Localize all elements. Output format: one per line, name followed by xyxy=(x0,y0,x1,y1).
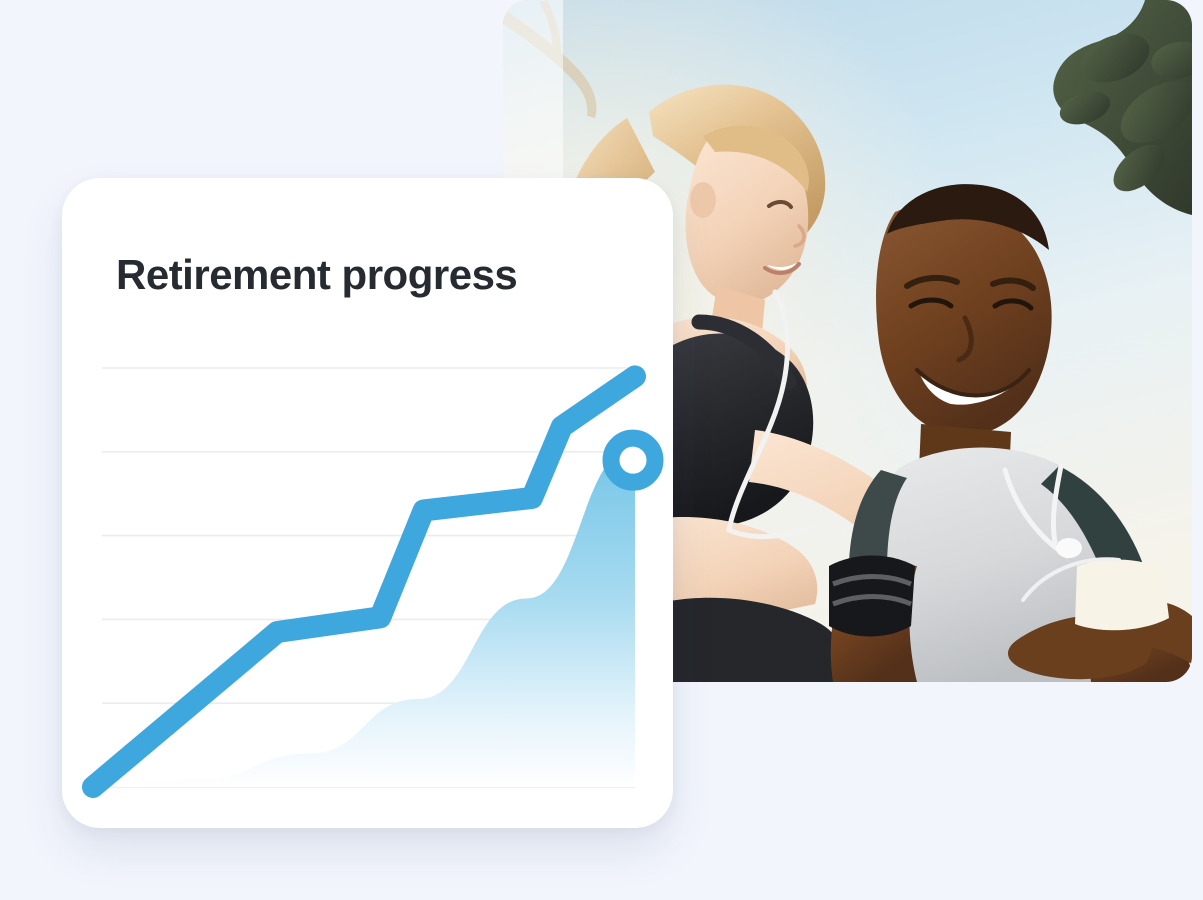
man-phone xyxy=(1075,560,1169,631)
retirement-progress-card: Retirement progress xyxy=(62,178,673,828)
chart-end-marker[interactable] xyxy=(611,438,655,482)
man-armband xyxy=(829,556,915,637)
page-root: Retirement progress xyxy=(0,0,1203,900)
chart-svg xyxy=(62,178,673,828)
retirement-progress-chart xyxy=(62,178,673,828)
